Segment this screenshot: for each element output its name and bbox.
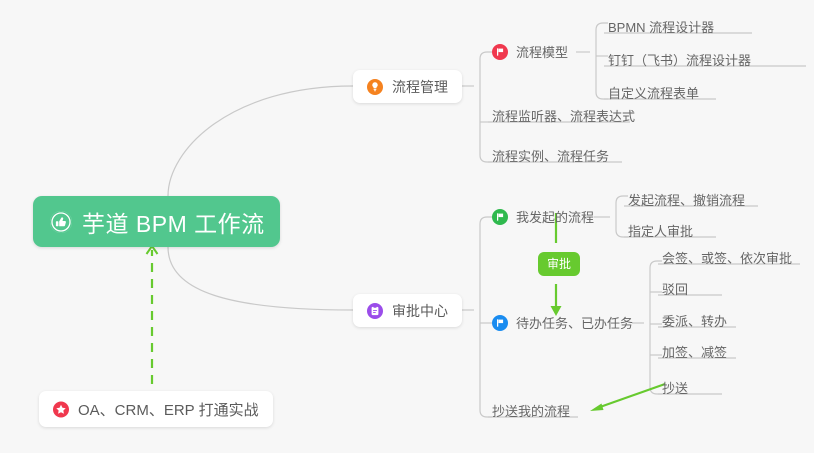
edge-pmodel-c3 [596,92,608,99]
node-bpmn-designer[interactable]: BPMN 流程设计器 [608,21,714,39]
node-label: 待办任务、已办任务 [516,317,633,330]
node-label: 会签、或签、依次审批 [662,252,792,270]
edge-ac-c1 [480,217,492,224]
thumbs-up-icon [50,211,72,233]
edge-todo-c5 [650,387,662,394]
node-label: 加签、减签 [662,346,727,364]
lightbulb-pin-icon [367,79,383,95]
node-label: 流程模型 [516,46,568,59]
edge-mine-c1 [616,196,628,203]
branch-label: 流程管理 [392,77,448,97]
node-start-cancel-process[interactable]: 发起流程、撤销流程 [628,194,745,212]
footer-note-label: OA、CRM、ERP 打通实战 [78,399,259,420]
star-icon [53,401,69,417]
node-add-remove-sign[interactable]: 加签、减签 [662,346,727,364]
arrowhead-footer-up [147,246,158,254]
node-process-listener[interactable]: 流程监听器、流程表达式 [492,110,635,128]
mindmap-canvas: 芋道 BPM 工作流 流程管理 流程模型 流程监听器、流程表达式 流程实例、流 [0,0,814,453]
flag-icon [492,315,508,331]
node-label: 钉钉（飞书）流程设计器 [608,54,751,72]
branch-label: 审批中心 [392,301,448,321]
node-label: 委派、转办 [662,315,727,333]
node-assignee-approval[interactable]: 指定人审批 [628,225,693,243]
node-label: 抄送我的流程 [492,405,570,423]
footer-note-node[interactable]: OA、CRM、ERP 打通实战 [39,391,273,427]
node-label: BPMN 流程设计器 [608,21,714,39]
node-label: 发起流程、撤销流程 [628,194,745,212]
approval-annotation-badge: 审批 [538,252,580,276]
branch-approval-center[interactable]: 审批中心 [353,294,462,327]
node-copied-to-me[interactable]: 抄送我的流程 [492,405,570,423]
node-label: 驳回 [662,283,688,301]
root-label: 芋道 BPM 工作流 [82,205,265,239]
edge-pmodel-c1 [596,23,608,30]
edge-pm-c1 [480,52,492,59]
node-reject[interactable]: 驳回 [662,283,688,301]
node-carbon-copy[interactable]: 抄送 [662,382,688,400]
node-label: 我发起的流程 [516,211,594,224]
node-label: 流程实例、流程任务 [492,150,609,168]
node-label: 抄送 [662,382,688,400]
node-label: 自定义流程表单 [608,87,699,105]
node-label: 流程监听器、流程表达式 [492,110,635,128]
edge-ac-c3 [480,410,492,417]
node-delegate-transfer[interactable]: 委派、转办 [662,315,727,333]
clipboard-icon [367,303,383,319]
node-custom-form[interactable]: 自定义流程表单 [608,87,699,105]
badge-label: 审批 [547,257,571,271]
node-todo-done-tasks[interactable]: 待办任务、已办任务 [492,315,633,331]
edge-root-to-process [168,86,353,196]
arrowhead-copy-left [590,404,604,412]
edge-root-to-approval [168,247,353,310]
node-my-initiated[interactable]: 我发起的流程 [492,209,594,225]
flag-icon [492,44,508,60]
edge-mine-c2 [616,230,628,237]
arrow-copy-to-mine [600,384,665,407]
node-process-instance[interactable]: 流程实例、流程任务 [492,150,609,168]
root-node[interactable]: 芋道 BPM 工作流 [33,196,280,247]
node-countersign[interactable]: 会签、或签、依次审批 [662,252,792,270]
node-dingtalk-designer[interactable]: 钉钉（飞书）流程设计器 [608,54,751,72]
edge-pm-c3 [480,155,492,162]
edge-todo-c1 [650,261,662,268]
node-label: 指定人审批 [628,225,693,243]
branch-process-management[interactable]: 流程管理 [353,70,462,103]
flag-icon [492,209,508,225]
node-process-model[interactable]: 流程模型 [492,44,568,60]
